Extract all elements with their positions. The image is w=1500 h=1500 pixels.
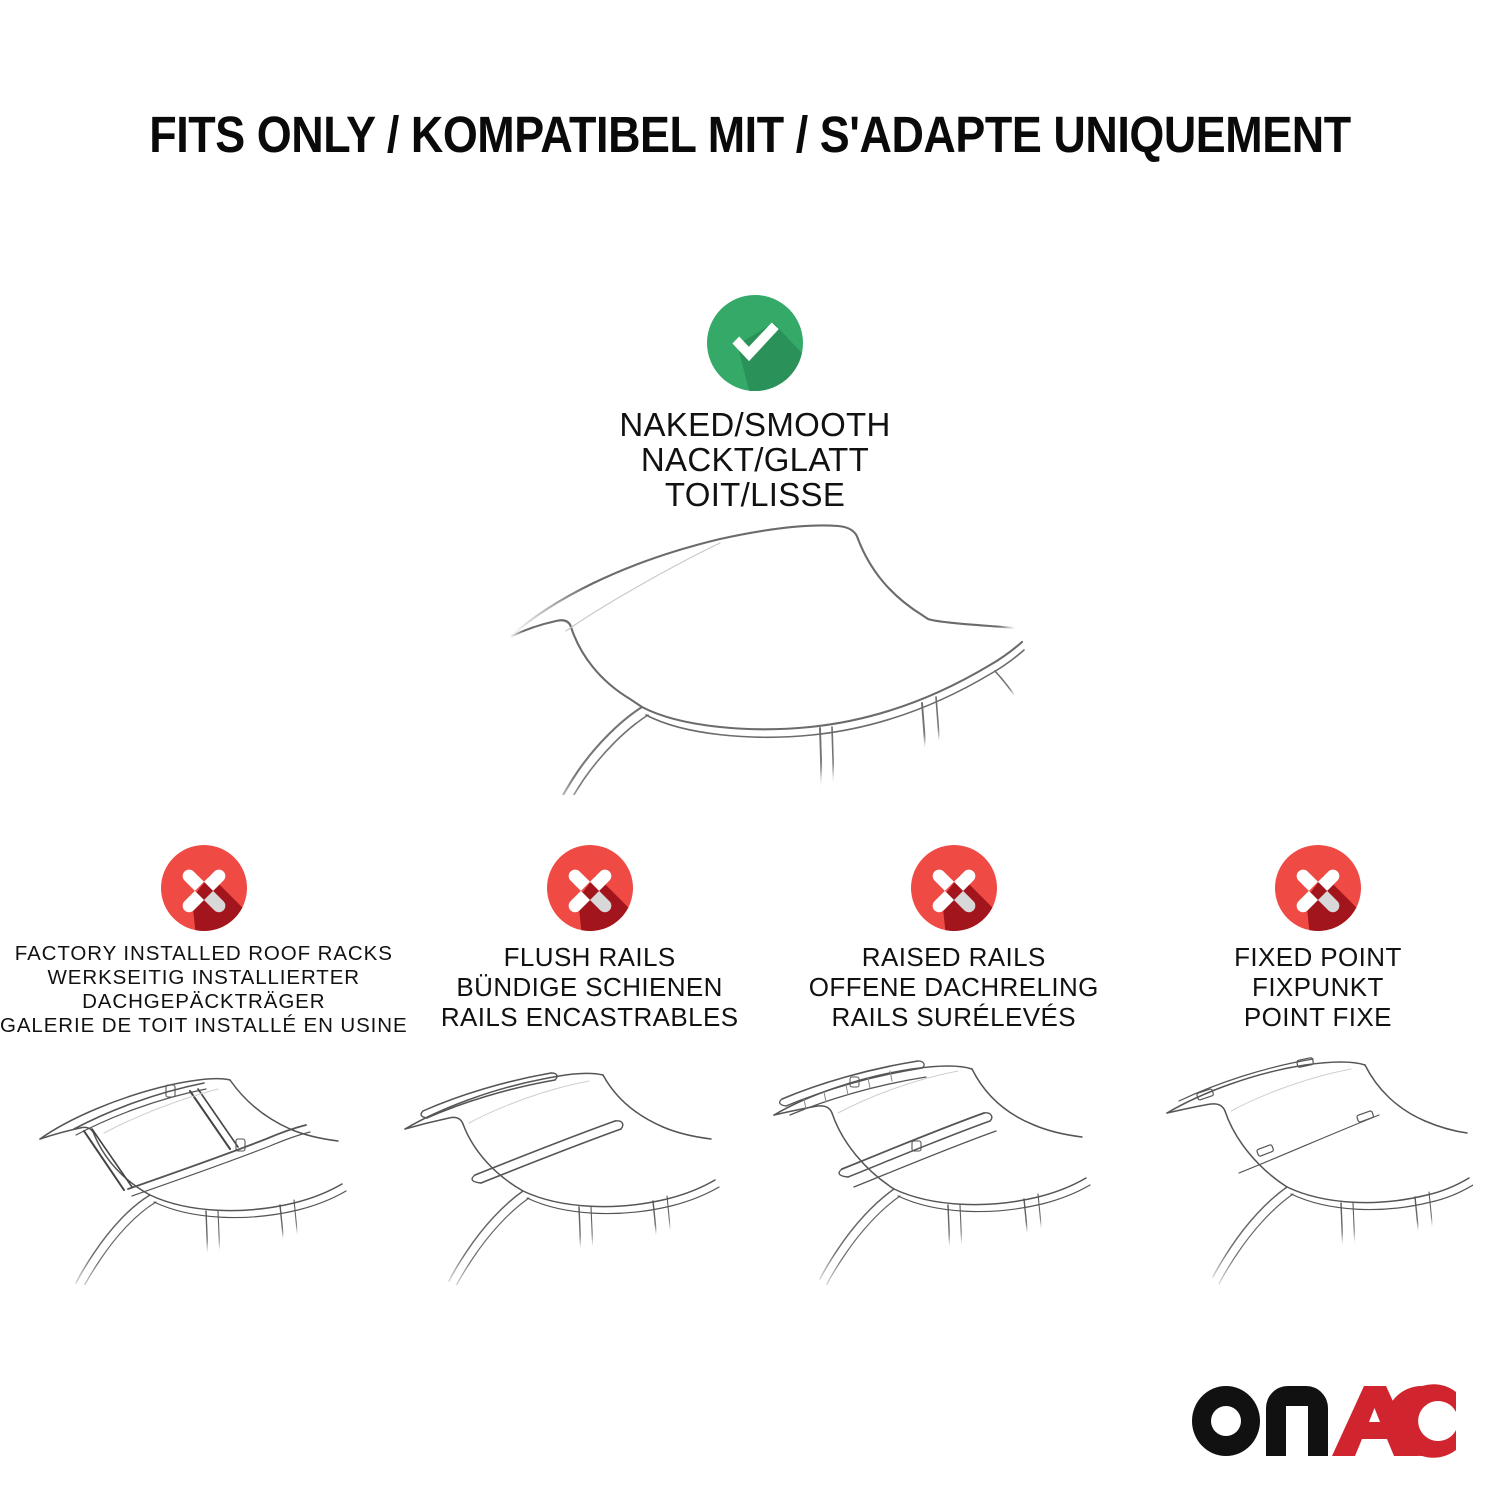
incompatible-label-line: FIXPUNKT	[1234, 972, 1402, 1002]
fixed-point-illustration	[1125, 1055, 1500, 1295]
incompatible-section: FACTORY INSTALLED ROOF RACKS WERKSEITIG …	[0, 845, 1500, 1075]
incompatible-label-line: WERKSEITIG INSTALLIERTER	[0, 966, 408, 990]
compatible-labels: NAKED/SMOOTH NACKT/GLATT TOIT/LISSE	[455, 407, 1055, 512]
incompatible-label-line: RAILS ENCASTRABLES	[441, 1002, 739, 1032]
incompatible-labels: FACTORY INSTALLED ROOF RACKS WERKSEITIG …	[0, 942, 408, 1038]
incompatible-label-line: GALERIE DE TOIT INSTALLÉ EN USINE	[0, 1014, 408, 1038]
smooth-roof-illustration	[470, 515, 1050, 795]
incompatible-label-line: DACHGEPÄCKTRÄGER	[0, 990, 408, 1014]
roof-illustration-row	[0, 1055, 1500, 1295]
incompatible-label-line: FACTORY INSTALLED ROOF RACKS	[0, 942, 408, 966]
logo-letter-o	[1192, 1386, 1260, 1456]
incompatible-label-line: RAISED RAILS	[809, 942, 1099, 972]
cross-circle-icon	[1275, 845, 1361, 931]
incompatible-labels: RAISED RAILS OFFENE DACHRELING RAILS SUR…	[809, 942, 1099, 1032]
page-title: FITS ONLY / KOMPATIBEL MIT / S'ADAPTE UN…	[90, 105, 1410, 164]
compatible-section: NAKED/SMOOTH NACKT/GLATT TOIT/LISSE	[455, 295, 1055, 512]
incompatible-label-line: RAILS SURÉLEVÉS	[809, 1002, 1099, 1032]
raised-rails-illustration	[750, 1055, 1125, 1295]
incompatible-item-fixed-point: FIXED POINT FIXPUNKT POINT FIXE	[1136, 845, 1500, 1075]
cross-circle-icon	[547, 845, 633, 931]
incompatible-item-raised-rails: RAISED RAILS OFFENE DACHRELING RAILS SUR…	[772, 845, 1136, 1075]
incompatible-label-line: OFFENE DACHRELING	[809, 972, 1099, 1002]
check-circle-icon	[707, 295, 803, 391]
incompatible-label-line: POINT FIXE	[1234, 1002, 1402, 1032]
incompatible-labels: FLUSH RAILS BÜNDIGE SCHIENEN RAILS ENCAS…	[441, 942, 739, 1032]
omac-logo	[1190, 1384, 1458, 1458]
cross-circle-icon	[161, 845, 247, 931]
compatible-label-de: NACKT/GLATT	[455, 442, 1055, 477]
compatible-label-fr: TOIT/LISSE	[455, 477, 1055, 512]
cross-circle-icon	[911, 845, 997, 931]
flush-rails-illustration	[375, 1055, 750, 1295]
incompatible-label-line: BÜNDIGE SCHIENEN	[441, 972, 739, 1002]
logo-letter-m	[1266, 1386, 1328, 1456]
incompatible-label-line: FLUSH RAILS	[441, 942, 739, 972]
factory-roof-rack-illustration	[0, 1055, 375, 1295]
compatible-label-en: NAKED/SMOOTH	[455, 407, 1055, 442]
incompatible-item-factory-roof-racks: FACTORY INSTALLED ROOF RACKS WERKSEITIG …	[0, 845, 408, 1075]
incompatible-label-line: FIXED POINT	[1234, 942, 1402, 972]
incompatible-item-flush-rails: FLUSH RAILS BÜNDIGE SCHIENEN RAILS ENCAS…	[408, 845, 772, 1075]
incompatible-labels: FIXED POINT FIXPUNKT POINT FIXE	[1234, 942, 1402, 1032]
